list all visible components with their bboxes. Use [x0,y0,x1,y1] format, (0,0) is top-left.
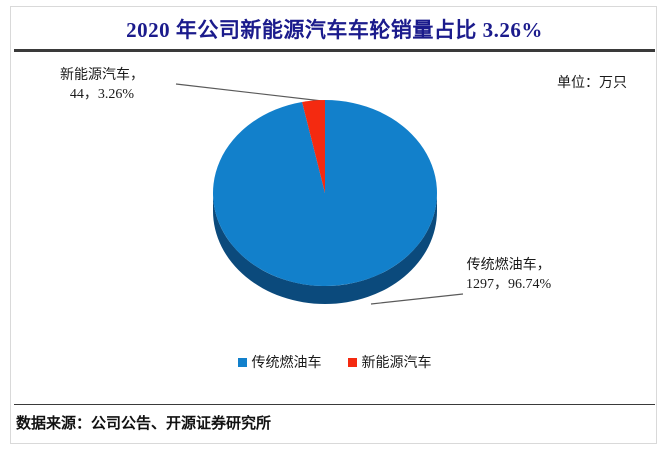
chart-legend: 传统燃油车 新能源汽车 [0,352,669,372]
leader-line-new-energy [176,84,331,102]
legend-swatch-new-energy [348,358,357,367]
pie-slice-fuel[interactable] [213,100,437,286]
legend-item-new-energy[interactable]: 新能源汽车 [348,352,432,372]
legend-label-fuel: 传统燃油车 [252,352,322,372]
pie-body [213,100,437,304]
legend-swatch-fuel [238,358,247,367]
leader-line-fuel [371,294,463,304]
legend-label-new-energy: 新能源汽车 [362,352,432,372]
footer-divider [14,404,655,405]
source-note: 数据来源：公司公告、开源证券研究所 [16,412,271,433]
pie-chart-graphic [0,0,669,450]
legend-item-fuel[interactable]: 传统燃油车 [238,352,322,372]
chart-figure: 2020 年公司新能源汽车车轮销量占比 3.26% 单位：万只 新能源汽车， 4… [0,0,669,450]
